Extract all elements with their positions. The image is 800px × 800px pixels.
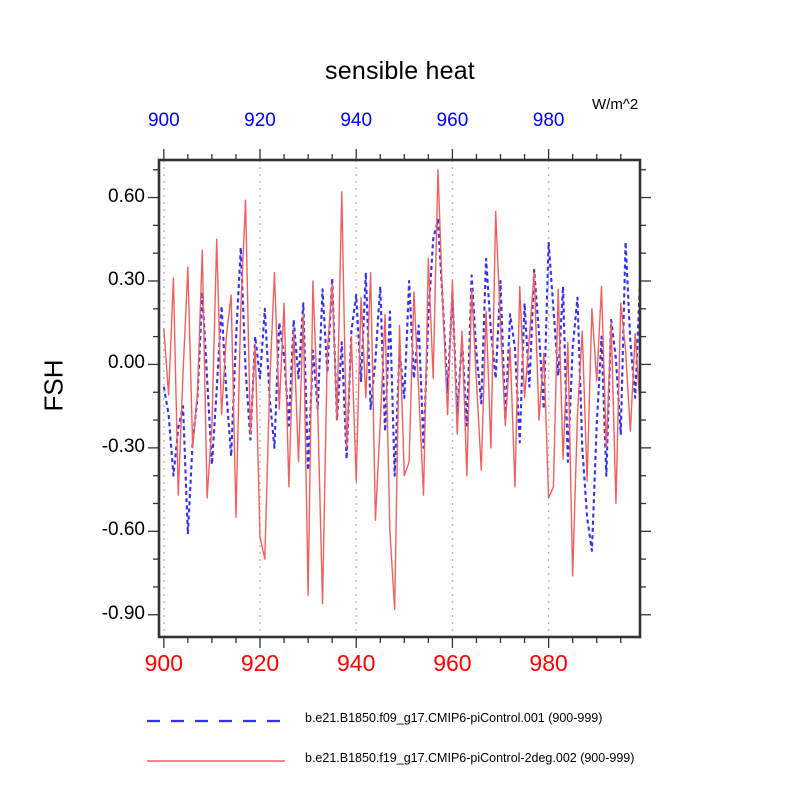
top-tick-900: 900 [148, 110, 180, 132]
y-tick-0.30: 0.30 [40, 269, 145, 291]
y-tick--0.30: -0.30 [40, 436, 145, 458]
bottom-tick-920: 920 [241, 650, 279, 677]
plot-frame [159, 160, 640, 637]
bottom-tick-940: 940 [337, 650, 375, 677]
units-label: W/m^2 [592, 96, 638, 113]
y-tick--0.60: -0.60 [40, 519, 145, 541]
legend-line-sample [145, 754, 287, 768]
y-tick-wrap: -0.60 [40, 519, 145, 541]
chart-page: sensible heat W/m^2 FSH 900920940960980 … [0, 0, 800, 800]
y-tick-wrap: -0.90 [40, 603, 145, 625]
top-tick-980: 980 [533, 110, 565, 132]
y-tick-wrap: 0.00 [40, 352, 145, 374]
bottom-tick-980: 980 [529, 650, 567, 677]
top-tick-960: 960 [437, 110, 469, 132]
data-series-2 [164, 170, 640, 609]
top-tick-920: 920 [244, 110, 276, 132]
top-tick-940: 940 [340, 110, 372, 132]
legend-label: b.e21.B1850.f19_g17.CMIP6-piControl-2deg… [305, 751, 634, 765]
y-tick-wrap: -0.30 [40, 436, 145, 458]
chart-title: sensible heat [0, 57, 800, 86]
bottom-tick-960: 960 [433, 650, 471, 677]
y-tick-0.60: 0.60 [40, 186, 145, 208]
y-tick-wrap: 0.30 [40, 269, 145, 291]
y-tick--0.90: -0.90 [40, 603, 145, 625]
y-tick-wrap: 0.60 [40, 186, 145, 208]
y-tick-0.00: 0.00 [40, 352, 145, 374]
legend-line-sample [145, 714, 287, 728]
y-axis-label: FSH [39, 326, 70, 446]
plot-area [0, 0, 800, 800]
legend-label: b.e21.B1850.f09_g17.CMIP6-piControl.001 … [305, 711, 602, 725]
bottom-tick-900: 900 [145, 650, 183, 677]
